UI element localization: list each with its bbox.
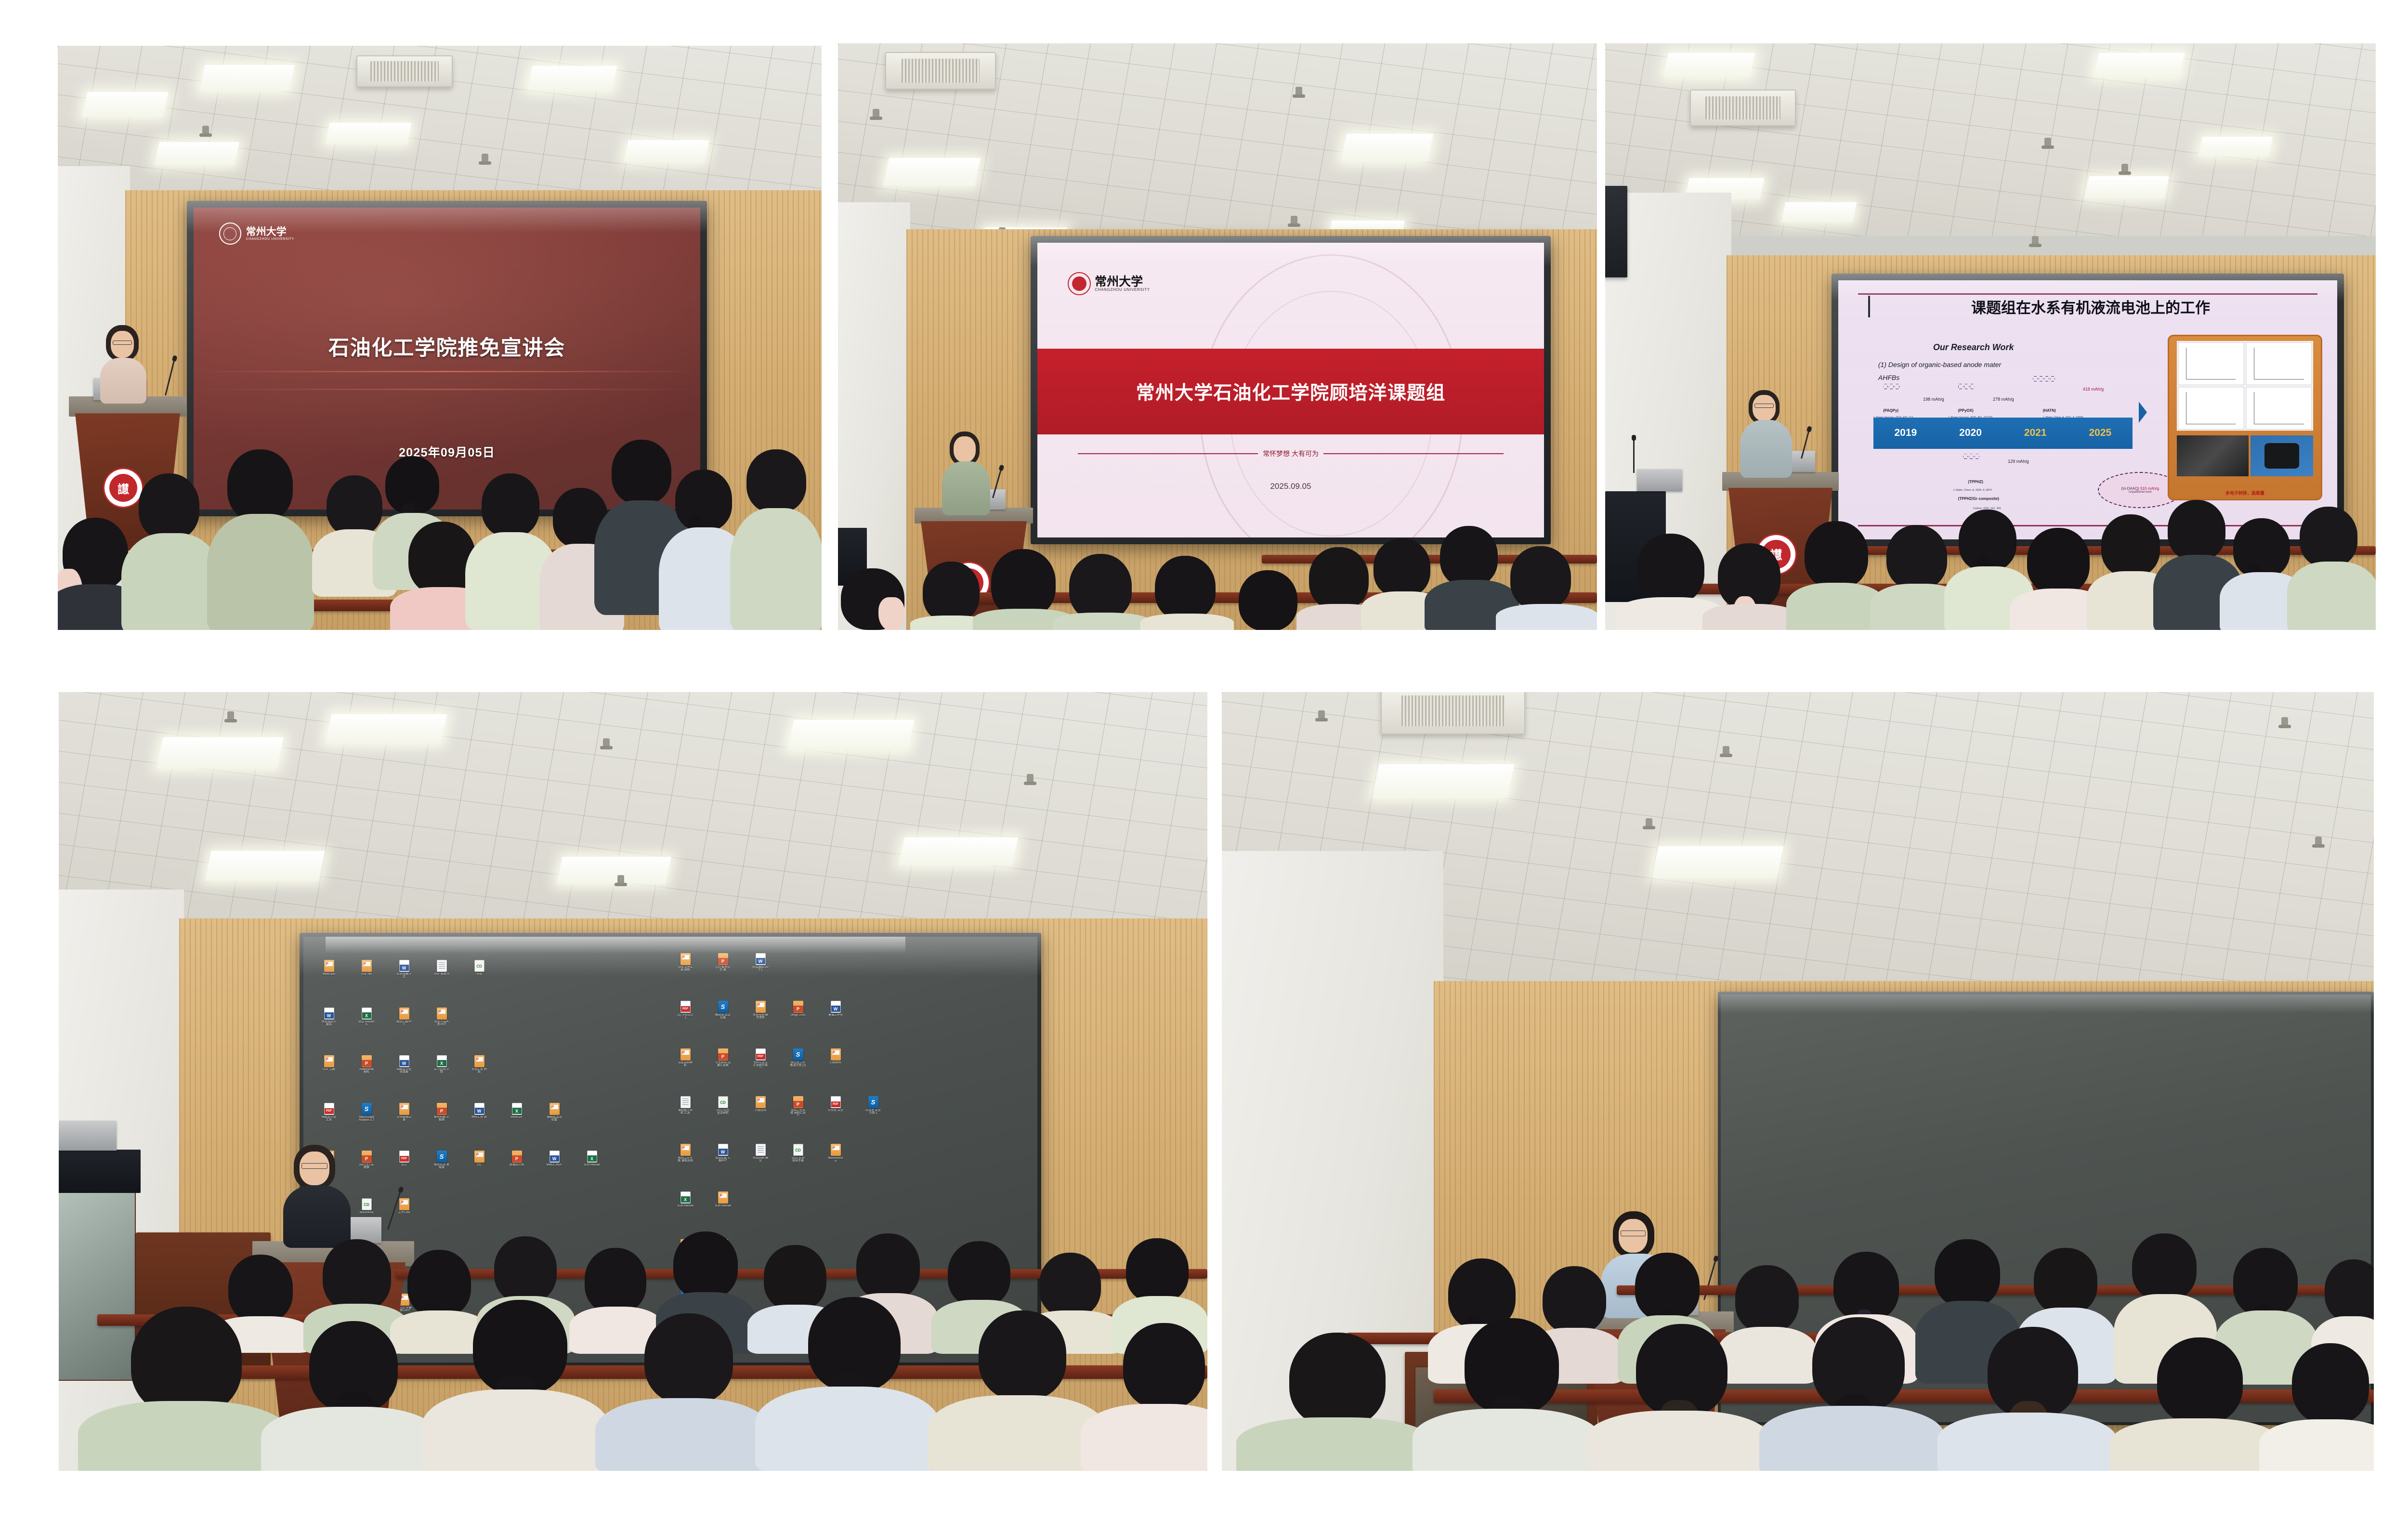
desktop-icon-label: AI辅助检索 材料 [358,1068,375,1074]
sprinkler-icon [227,711,234,722]
ceiling-light [787,720,914,750]
photo-collage: 常州大学 CHANGZHOU UNIVERSITY 石油化工学院推免宣讲会 20… [0,0,2408,1532]
slide-research-group: 常州大学 CHANGZHOU UNIVERSITY 常州大学石油化工学院顾培洋课… [1037,243,1544,537]
audience-member [1939,1327,2113,1471]
ceiling-light [899,838,1018,865]
ceiling-light [1781,202,1857,223]
file-icon [399,1103,409,1115]
desktop-icon-label: MestReNova [827,1157,844,1163]
sprinkler-icon [873,109,879,119]
file-icon [681,1192,691,1204]
sprinkler-icon [1318,710,1325,721]
file-icon [718,1001,728,1013]
desktop-icon-label: ommCDF [509,1116,525,1119]
file-icon [718,1192,728,1204]
sample-photo [2251,435,2313,476]
ceiling-light [2199,137,2273,156]
molecule-capacity: 278 mAh/g [1993,397,2014,402]
speaker-person [1738,390,1794,476]
audience-member [261,1321,434,1471]
slide-date: 2025.09.05 [1037,482,1544,491]
molecule-name: (HATN) [2043,408,2056,413]
research-bullet-1: (1) Design of organic-based anode mater [1878,361,2001,368]
ceiling-light [155,142,239,165]
file-icon [437,1008,447,1020]
desktop-icon[interactable]: PDF 推免 A [435,960,448,976]
molecule-structure [1958,384,1975,389]
desktop-icon[interactable]: 自查自纠材料 [679,1048,692,1067]
desktop-icon[interactable]: 获奖人选名单 PPT [435,1008,448,1026]
desktop-icon[interactable]: doc0041fa [360,1198,373,1214]
av-rack [59,1150,141,1193]
file-icon [324,1103,334,1115]
ceiling-light [157,737,284,768]
desktop-icon-label: 2025 实验 指导手册 [790,1157,806,1163]
ceiling-light [82,92,168,117]
ceiling-light [883,158,981,186]
sprinkler-icon [202,126,209,136]
desktop-icon-label: 论文 [396,1164,412,1166]
ceiling-light [205,851,325,881]
desktop-icon-label: 实验室 安全 [827,1109,844,1112]
desktop-icon-label: 实验 Manual [677,1205,694,1207]
file-icon [362,1151,372,1163]
file-icon [324,1055,334,1067]
file-icon [718,1144,728,1156]
audience-member [1414,1318,1597,1471]
file-icon [437,1151,447,1163]
file-icon [756,1001,766,1013]
slide-red-band: 常州大学石油化工学院顾培洋课题组 [1037,349,1544,434]
audience-member [757,1297,935,1471]
audience-member [1761,1317,1939,1471]
slide-motto-row: 常怀梦想 大有可为 [1078,449,1504,458]
logo-en-text: CHANGZHOU UNIVERSITY [1095,288,1150,292]
desktop-icon-label: 申请 [471,973,487,976]
desktop-icon-label: 国家奖学金 汇总 [321,1116,337,1122]
desktop-icon[interactable]: 申请 [473,960,485,976]
ac-vent [885,52,996,90]
av-laptop [1637,469,1682,491]
file-icon [868,1096,878,1108]
desktop-icon-label: 教师工作手册 课程总结 [677,1157,694,1163]
file-icon [474,1103,484,1115]
audience-member [930,1310,1102,1471]
file-icon [550,1151,560,1163]
sprinkler-icon [603,738,610,749]
file-icon [831,1096,841,1108]
university-logo: 常州大学 CHANGZHOU UNIVERSITY [219,223,294,245]
file-icon [793,1096,803,1108]
ceiling-light [557,857,671,884]
desktop-icon-label: (1) 学院公示 1 [677,1014,694,1020]
desktop-icon-label: 会议纪要 汇报PPT [715,1157,731,1163]
desktop-icon-label: (研究生) 成绩表 [358,1164,375,1169]
desktop-icon-label: (X) [471,1164,487,1166]
ac-vent [356,55,453,87]
desktop-icon[interactable]: 参会回执 确认 [754,1144,767,1163]
file-icon [362,1008,372,1020]
sprinkler-icon [2044,138,2051,148]
photo-panel-3: 课题组在水系有机液流电池上的工作 Our Research Work (1) D… [1605,43,2376,630]
slide-heading: 石油化工学院推免宣讲会 [194,331,700,361]
screen-content: 课题组在水系有机液流电池上的工作 Our Research Work (1) D… [1838,280,2337,539]
desktop-icon[interactable]: 实验室 安全守则 1 [867,1096,879,1115]
timeline-year: 2025 [2089,427,2112,439]
desktop-icon[interactable]: 材料汇总 表 [473,1103,485,1119]
desktop-icon-label: (中) 推免公示 表 [715,966,731,972]
desktop-icon[interactable]: (1) 学院公示 1 [679,1001,692,1020]
desktop-icon[interactable]: 课题组 会议纪要 [548,1103,561,1122]
sem-images [2177,435,2314,476]
ac-vent [1690,90,1796,126]
glasses-icon [301,1163,327,1169]
audience-member [1588,1324,1766,1471]
desktop-icon[interactable]: 实验 Manual [717,1192,729,1207]
ceiling-light [326,714,447,743]
desktop-icon-label: 水系电化学报告 [321,1021,337,1026]
power-plot [2178,387,2244,430]
microphone-icon [1633,438,1635,473]
audience-member [425,1300,603,1471]
audience-member [2262,1343,2374,1471]
file-icon [474,1151,484,1163]
desktop-icon-label: 实验数据记录 [396,1116,412,1122]
ceiling-light [1652,846,1784,878]
desktop-icon[interactable]: 实验 Manual [679,1192,692,1207]
file-icon [362,1103,372,1115]
desktop-icon[interactable]: 名单汇总 材料 [473,1055,485,1074]
molecule-name: (PAQPy) [1883,408,1898,413]
sprinkler-icon [1027,774,1034,785]
file-icon [474,960,484,972]
file-icon [437,1103,447,1115]
file-icon [718,1096,728,1108]
speaker-person [280,1145,353,1246]
desktop-icon-label: 课程教学资料 汇总 [677,1109,694,1115]
file-icon [681,1144,691,1156]
file-icon [437,1055,447,1067]
file-icon [550,1103,560,1115]
desktop-icon[interactable]: 参会通知 PPT 1 [754,953,767,972]
desktop-icon-label: 2025 招生 宣讲材料 [715,1109,731,1115]
audience-member [217,449,303,630]
desktop-icon[interactable]: 水系电池 教学资料 [754,1001,767,1020]
desktop-icon[interactable]: (研究生) 成绩表 [360,1151,373,1169]
file-icon [756,1048,766,1061]
desktop-icon[interactable]: 归档材料 [829,1048,842,1064]
file-icon [831,1001,841,1013]
sprinkler-icon [1723,746,1729,757]
sprinkler-icon [2281,717,2288,728]
file-icon [399,1198,409,1210]
file-icon [324,1008,334,1020]
audience-member [130,473,210,630]
desktop-icon-label: 备课文件夹 [827,1014,844,1017]
desktop-icon[interactable]: (X) [473,1151,485,1166]
audience-member [1708,543,1793,630]
note-molecule-name: (tri-DAAQ) [2121,486,2139,491]
ceiling-light [2094,53,2185,77]
slide-research: 课题组在水系有机液流电池上的工作 Our Research Work (1) D… [1838,280,2337,539]
desktop-icon[interactable]: ommCDF [510,1103,523,1119]
desktop-icon[interactable]: 会议纪要 汇报PPT [717,1144,729,1163]
desktop-icon-label: doc0041fa [358,1211,375,1214]
desktop-icon[interactable]: Word doc [323,960,335,976]
file-icon [793,1144,803,1156]
file-icon [756,1144,766,1156]
led-wall-screen: 常州大学 CHANGZHOU UNIVERSITY 常州大学石油化工学院顾培洋课… [1031,236,1551,544]
screen-glare [326,937,905,954]
desktop-icon[interactable]: 2025 实验 指导手册 [792,1144,804,1163]
logo-cn-text: 常州大学 [246,227,294,237]
timeline-arrow: 2019 2020 2021 2025 [1873,418,2133,449]
desktop-icon-label: 教研组 会议记录 [715,1014,731,1020]
capacity-plot [2246,387,2312,430]
desktop-icon[interactable]: 实验室 安全 [829,1096,842,1112]
file-icon [793,1001,803,1013]
ceiling-light [2084,176,2169,198]
logo-en-text: CHANGZHOU UNIVERSITY [246,237,294,241]
file-icon [681,1048,691,1061]
desktop-icon[interactable]: 数据统计表 [510,1151,523,1166]
audience-member [2113,1337,2277,1471]
desktop-icon[interactable]: 学生科研 成果汇总表 [717,1048,729,1067]
led-wall-screen: 课题组在水系有机液流电池上的工作 Our Research Work (1) D… [1832,274,2344,546]
molecule-structure [2033,376,2055,381]
desktop-icon-label: 实验室 安全守则 1 [865,1109,881,1115]
desktop-icon-label: 推免名额 上报表 [433,1116,450,1122]
desktop-icon-label: 数据统计表 [509,1164,525,1166]
desktop-icon[interactable]: 学院 文件汇总 材料 [679,953,692,972]
panel-caption: 多电子转移，高载量 [2169,490,2321,496]
desktop-icon[interactable]: PDF 文献 [323,1055,335,1071]
desktop-icon[interactable]: 答辩工作安排 材料汇总表 [792,1096,804,1115]
desktop-icon[interactable]: 组会汇报PPT [398,1008,410,1026]
file-icon [362,1198,372,1210]
desktop-icon[interactable]: 开题答辩 [754,1096,767,1112]
desktop-icon[interactable]: AI辅助检索 材料 [360,1055,373,1074]
desktop-icon[interactable]: (中) 推免公示 表 [717,953,729,972]
speaker-person [940,432,992,513]
desktop-icon[interactable]: NanoScope Analysis 1.7 [360,1103,373,1122]
audience-member [1793,521,1880,630]
desktop-icon-label: Origin 2025 [790,1014,806,1017]
slide-motto: 常怀梦想 大有可为 [1263,449,1319,458]
desktop-icon[interactable]: 会议 research [360,1008,373,1026]
molecule-capacity: 418 mAh/g [2083,387,2104,392]
desktop-icon-label: 开题答辩 [752,1109,769,1112]
photo-panel-4: Word docPDF file红色快捷方式PDF 推免 A申请水系电化学报告会… [59,692,1207,1471]
desktop-icon[interactable]: 研究生工作推进计划 (2) [792,1048,804,1067]
desktop-icon[interactable]: 文件归档 [398,1198,410,1214]
audience-member [981,549,1067,630]
file-icon [512,1151,522,1163]
wall-speaker [1605,186,1627,277]
logo-cn-text: 常州大学 [1095,275,1150,288]
file-icon [324,960,334,972]
desktop-icon-label: 材料汇总 表 [471,1116,487,1119]
university-logo: 常州大学 CHANGZHOU UNIVERSITY [1068,272,1150,295]
audience-member [598,1313,767,1471]
desktop-icon-label: PDF 文献 [321,1068,337,1071]
desktop-icon[interactable]: Origin 2025 [792,1001,804,1017]
desktop-icon-label: NanoScope Analysis 1.7 [358,1116,375,1122]
desktop-icon[interactable]: 国家奖学金 申请表 [398,1055,410,1074]
timeline-year: 2019 [1894,427,1917,439]
desktop-icon-label: PDF file [358,973,375,976]
glasses-icon [113,340,132,345]
sprinkler-icon [2315,837,2322,847]
file-icon [681,1001,691,1013]
cv-plot [2178,342,2244,385]
file-icon [399,960,409,972]
timeline-year: 2021 [2024,427,2047,439]
desktop-icon[interactable]: 课程教学资料 汇总 [679,1096,692,1115]
file-icon [756,1096,766,1108]
desktop-icon-label: 研究生工作推进计划 (2) [790,1061,806,1067]
desktop-icon-label: PDF 推免 A [433,973,450,976]
desktop-icon[interactable]: 实习证明 学院 [435,1055,448,1074]
audience-member [1499,546,1597,630]
timeline-year: 2020 [1959,427,1982,439]
photo-panel-1: 常州大学 CHANGZHOU UNIVERSITY 石油化工学院推免宣讲会 20… [58,46,822,630]
desktop-icon-label: 答辩工作安排 材料汇总表 [790,1109,806,1115]
research-subheading: Our Research Work [1933,342,2014,353]
desktop-icon[interactable]: 推免名单 复核表 [435,1151,448,1169]
sprinkler-icon [1296,87,1302,97]
ocv-plot [2246,342,2312,385]
audience-member [78,1307,280,1471]
ceiling-light [1663,53,1755,77]
desktop-icon[interactable]: 实验 Manual [586,1151,598,1166]
composite-label: (TPPHZ/Gr composite) [1958,497,1999,501]
desktop-icon-label: 文件归档 [396,1211,412,1214]
photo-panel-2: 常州大学 CHANGZHOU UNIVERSITY 常州大学石油化工学院顾培洋课… [838,43,1597,630]
sprinkler-icon [1646,818,1652,829]
desktop-icon[interactable]: 教师工作手册 课程总结 [679,1144,692,1163]
audience-member [1060,554,1144,630]
file-icon [681,953,691,965]
desktop-icon-label: 组会汇报PPT [396,1021,412,1026]
file-icon [362,1055,372,1067]
desktop-icon-label: 实验 Manual [715,1205,731,1207]
desktop-icon[interactable]: MMDL MOF [548,1151,561,1166]
speaker-person [95,325,151,402]
glasses-icon [1754,404,1774,408]
plot-grid [2177,341,2314,431]
ceiling-light [624,140,709,162]
desktop-icon-label: 自查自纠材料 [677,1061,694,1067]
file-icon [831,1144,841,1156]
desktop-icon[interactable]: 备课文件夹 [829,1001,842,1017]
audience-member [1085,1323,1207,1471]
photo-panel-5 [1222,692,2374,1471]
molecule-structure [1963,454,1979,459]
desktop-icon[interactable]: MestReNova [829,1144,842,1163]
reference-text: J. Mater. Chem. A, 2020, 8, 6874 [1953,489,1991,492]
research-bullet-2: AHFBs [1878,374,1899,381]
desktop-icon[interactable]: 推免名额 上报表 [435,1103,448,1122]
desktop-icon-label: 水系电池 教学资料 [752,1014,769,1020]
molecule-capacity: 129 mAh/g [2008,459,2029,464]
audience-member [1146,556,1227,630]
desktop-icon-label: 获奖人选名单 PPT [433,1021,450,1026]
desktop-icon-label: 实验 Manual [584,1164,600,1166]
ceiling [59,692,1207,938]
ceiling-light [527,66,617,90]
desktop-icon-label: 名单汇总 材料 [471,1068,487,1074]
screen-content: 常州大学 CHANGZHOU UNIVERSITY 常州大学石油化工学院顾培洋课… [1037,243,1544,537]
file-icon [362,960,372,972]
desktop-icon-label: 国家奖学金 申请表 [396,1068,412,1074]
desktop-icon-label: 参会回执 确认 [752,1157,769,1163]
ceiling-light [199,65,294,91]
sprinkler-icon [1291,216,1297,226]
file-icon [474,1055,484,1067]
file-icon [681,1096,691,1108]
desktop-icon-label: MMDL MOF [546,1164,563,1166]
desktop-icon-label: 归档材料 [827,1061,844,1064]
file-icon [399,1151,409,1163]
ceiling-light [1341,134,1433,162]
results-panel: 多电子转移，高载量 [2168,335,2322,500]
audience-member [1236,1333,1429,1471]
desktop-icon-label: 专利与论文汇总统计表 (1) [752,1061,769,1068]
desktop-icon[interactable]: 红色快捷方式 [398,960,410,979]
ac-vent [1381,692,1525,734]
audience-member [472,473,549,628]
desktop-icon[interactable]: 实验数据记录 [398,1103,410,1122]
desktop-icon-label: 推免名单 复核表 [433,1164,450,1169]
sprinkler-icon [482,154,488,164]
desktop-icon[interactable]: 国家奖学金 汇总 [323,1103,335,1122]
desktop-icon[interactable]: 2025 招生 宣讲材料 [717,1096,729,1115]
desktop-icon[interactable]: PDF file [360,960,373,976]
molecule-name: (PPyOX) [1958,408,1974,413]
sprinkler-icon [617,875,624,886]
desktop-icon[interactable]: 教研组 会议记录 [717,1001,729,1020]
note-label: Unpublished work [2121,491,2159,494]
molecule-structure [1883,384,1899,389]
desktop-icon[interactable]: 水系电化学报告 [323,1008,335,1026]
file-icon [437,960,447,972]
desktop-icon[interactable]: 论文 [398,1151,410,1166]
desktop-icon-label: 实习证明 学院 [433,1068,450,1074]
molecule-name: (TPPHZ) [1968,480,1983,484]
sem-image [2177,435,2249,476]
file-icon [718,1048,728,1061]
file-icon [718,953,728,965]
desktop-icon-label: 红色快捷方式 [396,973,412,979]
file-icon [587,1151,597,1163]
ceiling-light [1373,764,1515,798]
audience-member [1232,570,1307,630]
glasses-icon [1621,1231,1646,1236]
desktop-icon-label: 学院 文件汇总 材料 [677,966,694,972]
desktop-icon-label: Word doc [321,973,337,976]
note-capacity: 515 mAh/g [2140,486,2159,491]
sprinkler-icon [2121,164,2128,174]
sprinkler-icon [2032,236,2039,247]
slide-band-text: 常州大学石油化工学院顾培洋课题组 [1136,378,1446,405]
desktop-icon[interactable]: 专利与论文汇总统计表 (1) [754,1048,767,1068]
audience-member [2289,507,2376,630]
desktop-icon-label: 会议 research [358,1021,375,1026]
file-icon [793,1048,803,1061]
file-icon [512,1103,522,1115]
av-laptop [59,1121,117,1151]
